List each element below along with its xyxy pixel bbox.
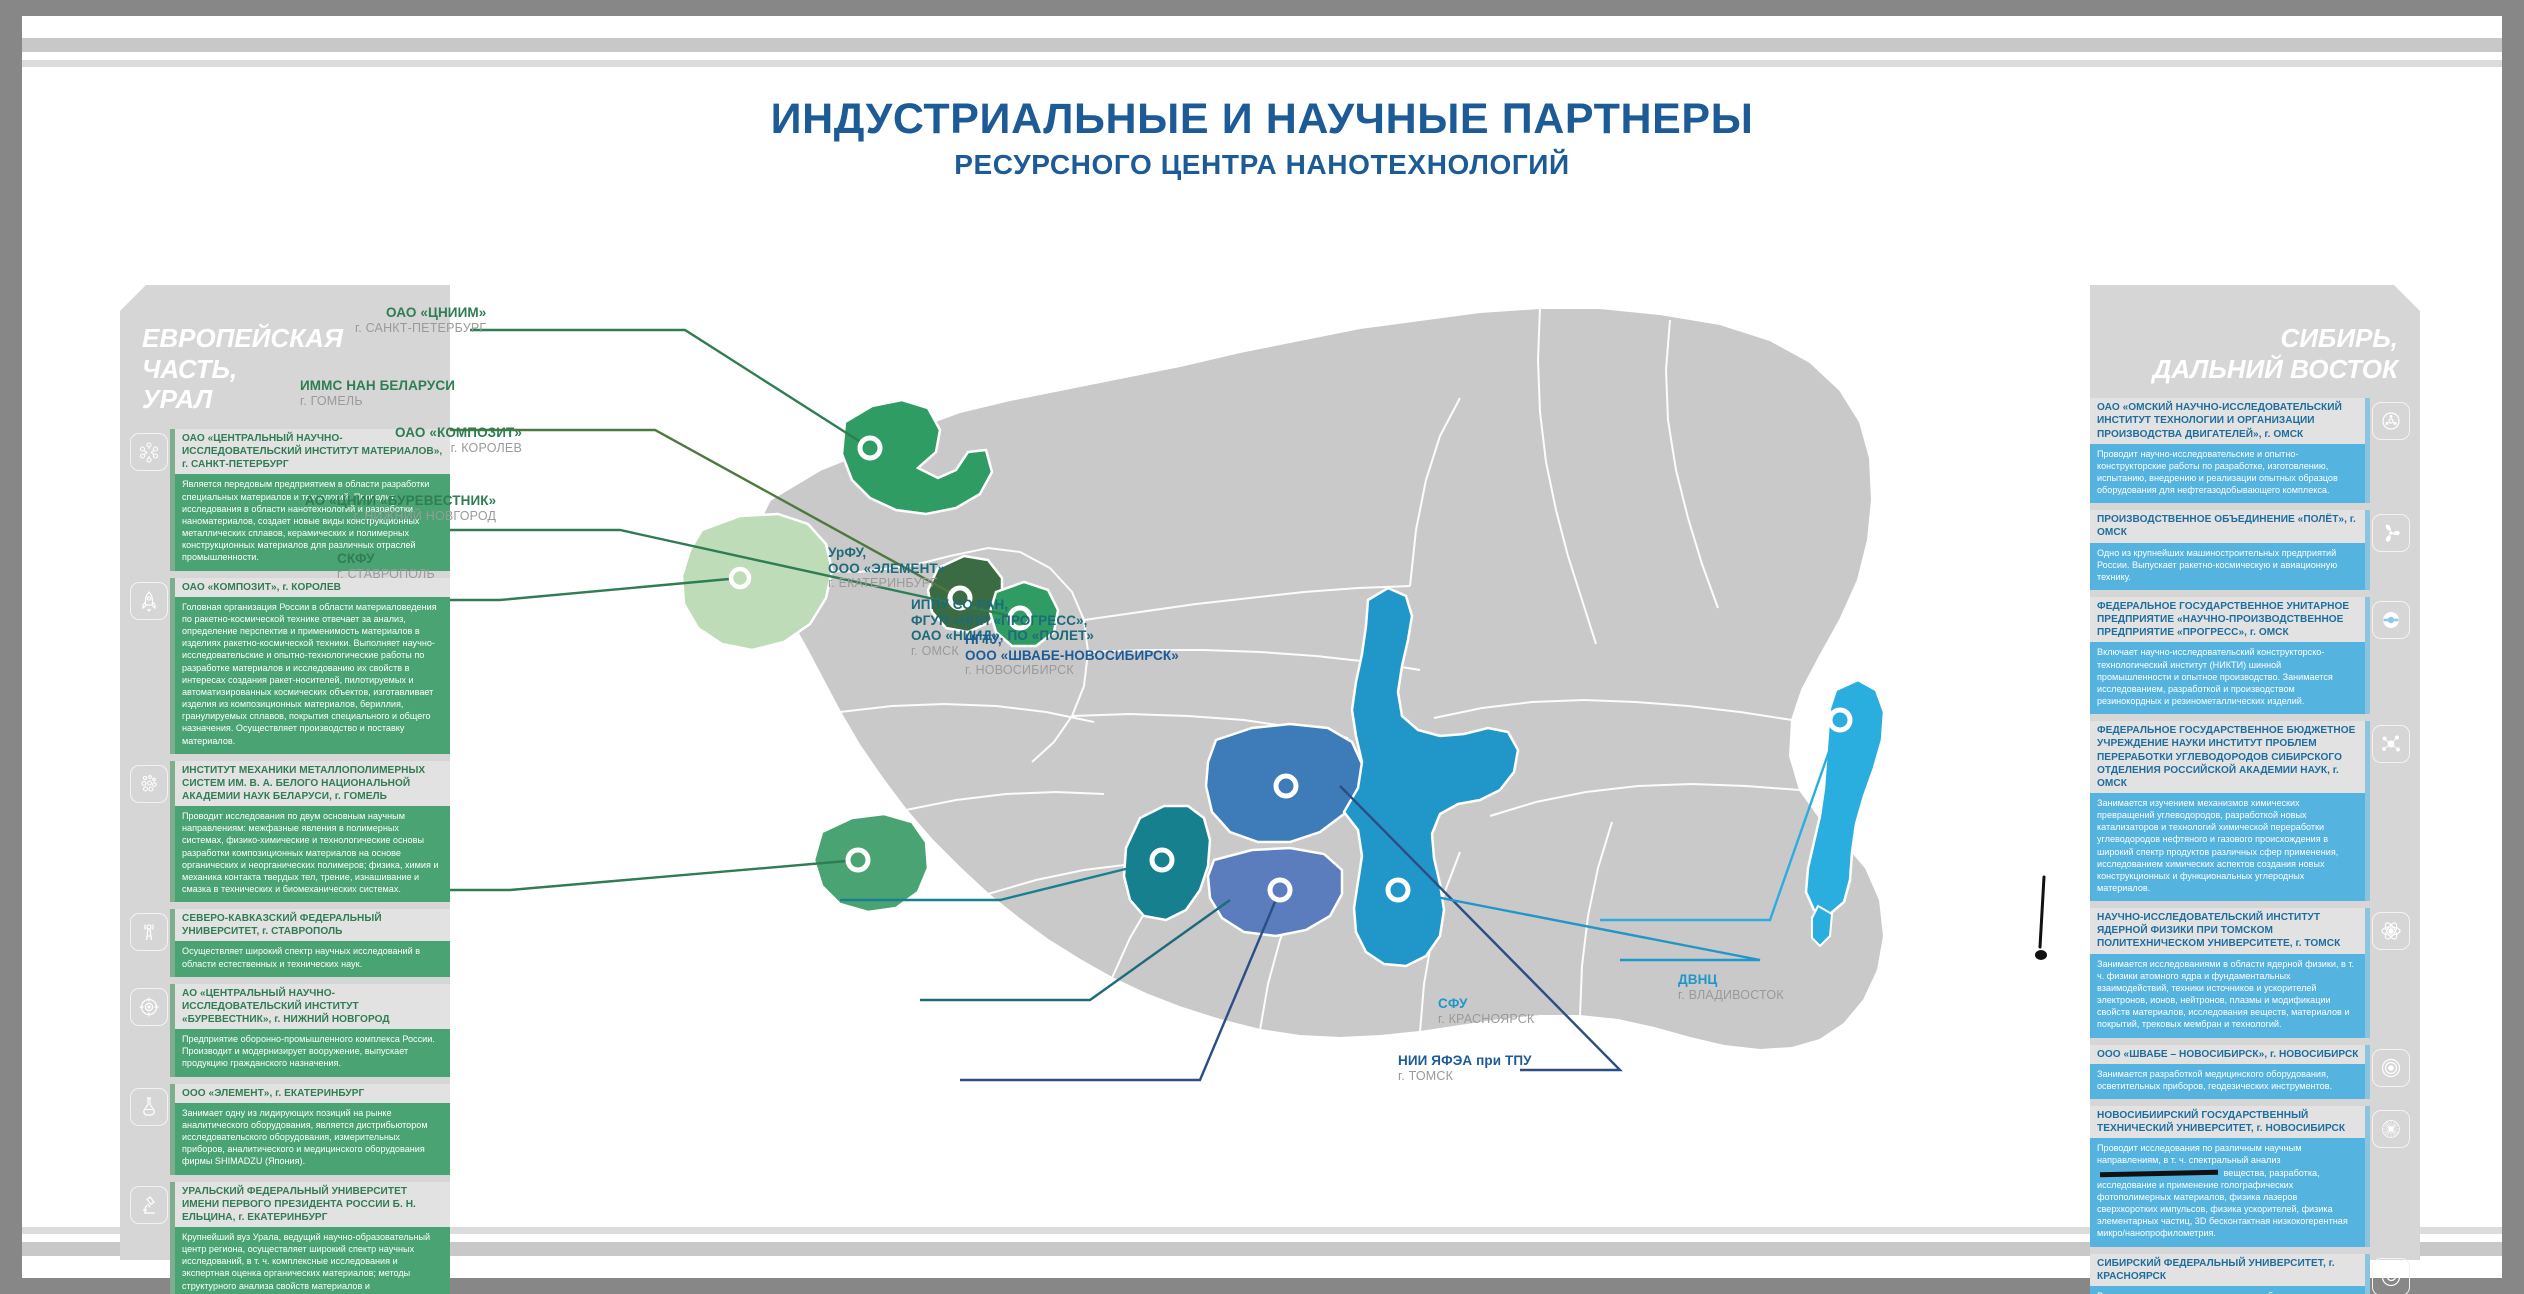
tire-icon bbox=[2372, 601, 2410, 639]
entry-description: Занимает одну из лидирующих позиций на р… bbox=[175, 1103, 450, 1175]
page-subtitle: РЕСУРСНОГО ЦЕНТРА НАНОТЕХНОЛОГИЙ bbox=[0, 149, 2524, 181]
entry-description: Проводит исследования по различным научн… bbox=[2090, 1138, 2365, 1246]
russia-map bbox=[440, 200, 2100, 1200]
callout-name-line2: ФГУП «НПП «ПРОГРЕСС», bbox=[911, 613, 1094, 629]
callout-cniim: ОАО «ЦНИИМ» г. САНКТ-ПЕТЕРБУРГ bbox=[355, 305, 486, 335]
entry-body: ОАО «КОМПОЗИТ», г. КОРОЛЕВ Головная орга… bbox=[175, 578, 450, 754]
callout-imms: ИММС НАН БЕЛАРУСИ г. ГОМЕЛЬ bbox=[300, 378, 455, 408]
poster-root: ИНДУСТРИАЛЬНЫЕ И НАУЧНЫЕ ПАРТНЕРЫ РЕСУРС… bbox=[0, 0, 2524, 1294]
entry-body: НАУЧНО-ИССЛЕДОВАТЕЛЬСКИЙ ИНСТИТУТ ЯДЕРНО… bbox=[2090, 908, 2365, 1037]
callout-name-line2: ООО «ЭЛЕМЕНТ» bbox=[828, 561, 945, 577]
callout-city: г. КРАСНОЯРСК bbox=[1438, 1012, 1534, 1027]
entry-description: Занимается изучением механизмов химическ… bbox=[2090, 793, 2365, 901]
partner-entry[interactable]: ООО «ШВАБЕ – НОВОСИБИРСК», г. НОВОСИБИРС… bbox=[2090, 1045, 2420, 1099]
entry-title: УРАЛЬСКИЙ ФЕДЕРАЛЬНЫЙ УНИВЕРСИТЕТ ИМЕНИ … bbox=[175, 1182, 450, 1227]
callout-name-line1: ИППУ СО РАН, bbox=[911, 597, 1094, 613]
callout-city: г. ЕКАТЕРИНБУРГ bbox=[828, 576, 945, 591]
partner-entry[interactable]: УРАЛЬСКИЙ ФЕДЕРАЛЬНЫЙ УНИВЕРСИТЕТ ИМЕНИ … bbox=[120, 1182, 450, 1294]
turbine-icon bbox=[2372, 514, 2410, 552]
entry-description: Решает междисциплинарные задачи в област… bbox=[2090, 1286, 2365, 1294]
entry-body: АО «ЦЕНТРАЛЬНЫЙ НАУЧНО-ИССЛЕДОВАТЕЛЬСКИЙ… bbox=[175, 984, 450, 1077]
partner-entry[interactable]: ОАО «ОМСКИЙ НАУЧНО-ИССЛЕДОВАТЕЛЬСКИЙ ИНС… bbox=[2090, 398, 2420, 503]
entry-body: ОАО «ОМСКИЙ НАУЧНО-ИССЛЕДОВАТЕЛЬСКИЙ ИНС… bbox=[2090, 398, 2365, 503]
entry-description: Включает научно-исследовательский констр… bbox=[2090, 642, 2365, 714]
callout-city: г. НИЖНИЙ НОВГОРОД bbox=[305, 509, 496, 524]
callout-city: г. СТАВРОПОЛЬ bbox=[337, 567, 435, 582]
target-icon bbox=[130, 988, 168, 1026]
frame-top-border bbox=[0, 0, 2524, 16]
entry-title: СЕВЕРО-КАВКАЗСКИЙ ФЕДЕРАЛЬНЫЙ УНИВЕРСИТЕ… bbox=[175, 909, 450, 941]
map-svg bbox=[440, 200, 2100, 1200]
handdrawn-pen-mark bbox=[2030, 875, 2060, 965]
molecule-icon bbox=[130, 433, 168, 471]
callout-name-line2: ООО «ШВАБЕ-НОВОСИБИРСК» bbox=[965, 648, 1179, 664]
lens-icon bbox=[2372, 1049, 2410, 1087]
desc-part2: вещества, разработка, исследование и при… bbox=[2097, 1168, 2348, 1239]
callout-name: СФУ bbox=[1438, 996, 1534, 1012]
callout-novosibirsk: НГТУ, ООО «ШВАБЕ-НОВОСИБИРСК» г. НОВОСИБ… bbox=[965, 632, 1179, 678]
partner-entry[interactable]: СЕВЕРО-КАВКАЗСКИЙ ФЕДЕРАЛЬНЫЙ УНИВЕРСИТЕ… bbox=[120, 909, 450, 977]
partner-entry[interactable]: НАУЧНО-ИССЛЕДОВАТЕЛЬСКИЙ ИНСТИТУТ ЯДЕРНО… bbox=[2090, 908, 2420, 1037]
callout-name: СКФУ bbox=[337, 551, 435, 567]
callout-city: г. ВЛАДИВОСТОК bbox=[1678, 988, 1784, 1003]
laser-burst-icon bbox=[2372, 1110, 2410, 1148]
entry-body: УРАЛЬСКИЙ ФЕДЕРАЛЬНЫЙ УНИВЕРСИТЕТ ИМЕНИ … bbox=[175, 1182, 450, 1294]
entry-body: ИНСТИТУТ МЕХАНИКИ МЕТАЛЛОПОЛИМЕРНЫХ СИСТ… bbox=[175, 761, 450, 903]
atom-icon bbox=[2372, 912, 2410, 950]
callout-city: г. ГОМЕЛЬ bbox=[300, 394, 455, 409]
desc-part1: Проводит исследования по различным научн… bbox=[2097, 1143, 2301, 1165]
page-title-block: ИНДУСТРИАЛЬНЫЕ И НАУЧНЫЕ ПАРТНЕРЫ РЕСУРС… bbox=[0, 95, 2524, 181]
entry-body: ФЕДЕРАЛЬНОЕ ГОСУДАРСТВЕННОЕ УНИТАРНОЕ ПР… bbox=[2090, 597, 2365, 714]
panel-header-right: СИБИРЬ, ДАЛЬНИЙ ВОСТОК bbox=[2090, 285, 2420, 398]
callout-urfu: УрФУ, ООО «ЭЛЕМЕНТ» г. ЕКАТЕРИНБУРГ bbox=[828, 545, 945, 591]
redaction-mark bbox=[2100, 1169, 2218, 1176]
callout-burevestnik: АО «ЦНИИ «БУРЕВЕСТНИК» г. НИЖНИЙ НОВГОРО… bbox=[305, 493, 496, 523]
antenna-icon bbox=[130, 913, 168, 951]
spiral-icon bbox=[2372, 1258, 2410, 1294]
partner-entry[interactable]: ИНСТИТУТ МЕХАНИКИ МЕТАЛЛОПОЛИМЕРНЫХ СИСТ… bbox=[120, 761, 450, 903]
callout-kompozit: ОАО «КОМПОЗИТ» г. КОРОЛЕВ bbox=[395, 425, 522, 455]
entry-description: Проводит научно-исследовательские и опыт… bbox=[2090, 444, 2365, 504]
callout-name: ОАО «КОМПОЗИТ» bbox=[395, 425, 522, 441]
callout-name-line1: УрФУ, bbox=[828, 545, 945, 561]
callout-name-line1: НГТУ, bbox=[965, 632, 1179, 648]
frame-right-border bbox=[2502, 0, 2524, 1294]
rocket-icon bbox=[130, 582, 168, 620]
partner-entry[interactable]: АО «ЦЕНТРАЛЬНЫЙ НАУЧНО-ИССЛЕДОВАТЕЛЬСКИЙ… bbox=[120, 984, 450, 1077]
panel-header-line1: СИБИРЬ, bbox=[2112, 323, 2398, 354]
entry-title: НАУЧНО-ИССЛЕДОВАТЕЛЬСКИЙ ИНСТИТУТ ЯДЕРНО… bbox=[2090, 908, 2365, 953]
entry-title: ИНСТИТУТ МЕХАНИКИ МЕТАЛЛОПОЛИМЕРНЫХ СИСТ… bbox=[175, 761, 450, 806]
entry-title: НОВОСИБИИРСКИЙ ГОСУДАРСТВЕННЫЙ ТЕХНИЧЕСК… bbox=[2090, 1106, 2365, 1138]
partner-entry[interactable]: ООО «ЭЛЕМЕНТ», г. ЕКАТЕРИНБУРГ Занимает … bbox=[120, 1084, 450, 1175]
entry-body: ООО «ЭЛЕМЕНТ», г. ЕКАТЕРИНБУРГ Занимает … bbox=[175, 1084, 450, 1175]
flask-icon bbox=[130, 1088, 168, 1126]
partner-entry[interactable]: СИБИРСКИЙ ФЕДЕРАЛЬНЫЙ УНИВЕРСИТЕТ, г. КР… bbox=[2090, 1254, 2420, 1294]
callout-tomsk: НИИ ЯФЭА при ТПУ г. ТОМСК bbox=[1398, 1053, 1532, 1083]
callout-name: НИИ ЯФЭА при ТПУ bbox=[1398, 1053, 1532, 1069]
particles-icon bbox=[130, 765, 168, 803]
entry-description: Одно из крупнейших машиностроительных пр… bbox=[2090, 543, 2365, 591]
partner-entry[interactable]: ФЕДЕРАЛЬНОЕ ГОСУДАРСТВЕННОЕ БЮДЖЕТНОЕ УЧ… bbox=[2090, 721, 2420, 901]
entry-title: ОАО «ОМСКИЙ НАУЧНО-ИССЛЕДОВАТЕЛЬСКИЙ ИНС… bbox=[2090, 398, 2365, 443]
entry-description: Осуществляет широкий спектр научных иссл… bbox=[175, 941, 450, 976]
callout-city: г. САНКТ-ПЕТЕРБУРГ bbox=[355, 321, 486, 336]
entry-title: ПРОИЗВОДСТВЕННОЕ ОБЪЕДИНЕНИЕ «ПОЛЁТ», г.… bbox=[2090, 510, 2365, 542]
callout-city: г. НОВОСИБИРСК bbox=[965, 663, 1179, 678]
entry-title: ООО «ЭЛЕМЕНТ», г. ЕКАТЕРИНБУРГ bbox=[175, 1084, 450, 1103]
callout-city: г. ТОМСК bbox=[1398, 1069, 1532, 1084]
frame-left-border bbox=[0, 0, 22, 1294]
entry-description: Занимается разработкой медицинского обор… bbox=[2090, 1064, 2365, 1099]
decor-bar-top-thin bbox=[22, 60, 2502, 67]
callout-city: г. КОРОЛЕВ bbox=[395, 441, 522, 456]
entry-title: АО «ЦЕНТРАЛЬНЫЙ НАУЧНО-ИССЛЕДОВАТЕЛЬСКИЙ… bbox=[175, 984, 450, 1029]
entry-title: СИБИРСКИЙ ФЕДЕРАЛЬНЫЙ УНИВЕРСИТЕТ, г. КР… bbox=[2090, 1254, 2365, 1286]
page-title: ИНДУСТРИАЛЬНЫЕ И НАУЧНЫЕ ПАРТНЕРЫ bbox=[0, 95, 2524, 143]
molecule-bond-icon bbox=[2372, 725, 2410, 763]
partner-entry[interactable]: ФЕДЕРАЛЬНОЕ ГОСУДАРСТВЕННОЕ УНИТАРНОЕ ПР… bbox=[2090, 597, 2420, 714]
entry-title: ФЕДЕРАЛЬНОЕ ГОСУДАРСТВЕННОЕ БЮДЖЕТНОЕ УЧ… bbox=[2090, 721, 2365, 793]
callout-dvnc: ДВНЦ г. ВЛАДИВОСТОК bbox=[1678, 972, 1784, 1002]
callout-sfu: СФУ г. КРАСНОЯРСК bbox=[1438, 996, 1534, 1026]
partner-list-right: ОАО «ОМСКИЙ НАУЧНО-ИССЛЕДОВАТЕЛЬСКИЙ ИНС… bbox=[2090, 398, 2420, 1294]
microscope-icon bbox=[130, 1186, 168, 1224]
partner-entry[interactable]: ПРОИЗВОДСТВЕННОЕ ОБЪЕДИНЕНИЕ «ПОЛЁТ», г.… bbox=[2090, 510, 2420, 590]
entry-description: Головная организация России в области ма… bbox=[175, 597, 450, 754]
entry-description: Предприятие оборонно-промышленного компл… bbox=[175, 1029, 450, 1077]
callout-skfu: СКФУ г. СТАВРОПОЛЬ bbox=[337, 551, 435, 581]
gear-wheel-icon bbox=[2372, 402, 2410, 440]
callout-name: АО «ЦНИИ «БУРЕВЕСТНИК» bbox=[305, 493, 496, 509]
entry-description: Проводит исследования по двум основным н… bbox=[175, 806, 450, 902]
partner-entry[interactable]: НОВОСИБИИРСКИЙ ГОСУДАРСТВЕННЫЙ ТЕХНИЧЕСК… bbox=[2090, 1106, 2420, 1247]
callout-name: ОАО «ЦНИИМ» bbox=[355, 305, 486, 321]
entry-title: ООО «ШВАБЕ – НОВОСИБИРСК», г. НОВОСИБИРС… bbox=[2090, 1045, 2365, 1064]
panel-header-line2: ДАЛЬНИЙ ВОСТОК bbox=[2112, 354, 2398, 385]
entry-body: СЕВЕРО-КАВКАЗСКИЙ ФЕДЕРАЛЬНЫЙ УНИВЕРСИТЕ… bbox=[175, 909, 450, 977]
decor-bar-top-thick bbox=[22, 38, 2502, 52]
callout-name: ДВНЦ bbox=[1678, 972, 1784, 988]
entry-body: ПРОИЗВОДСТВЕННОЕ ОБЪЕДИНЕНИЕ «ПОЛЁТ», г.… bbox=[2090, 510, 2365, 590]
entry-body: ФЕДЕРАЛЬНОЕ ГОСУДАРСТВЕННОЕ БЮДЖЕТНОЕ УЧ… bbox=[2090, 721, 2365, 901]
entry-title: ФЕДЕРАЛЬНОЕ ГОСУДАРСТВЕННОЕ УНИТАРНОЕ ПР… bbox=[2090, 597, 2365, 642]
partner-entry[interactable]: ОАО «КОМПОЗИТ», г. КОРОЛЕВ Головная орга… bbox=[120, 578, 450, 754]
entry-body: НОВОСИБИИРСКИЙ ГОСУДАРСТВЕННЫЙ ТЕХНИЧЕСК… bbox=[2090, 1106, 2365, 1247]
callout-name: ИММС НАН БЕЛАРУСИ bbox=[300, 378, 455, 394]
entry-description: Крупнейший вуз Урала, ведущий научно-обр… bbox=[175, 1227, 450, 1294]
entry-body: ООО «ШВАБЕ – НОВОСИБИРСК», г. НОВОСИБИРС… bbox=[2090, 1045, 2365, 1099]
sidebar-siberia-far-east: СИБИРЬ, ДАЛЬНИЙ ВОСТОК ОАО «ОМСКИЙ НАУЧН… bbox=[2090, 285, 2420, 1260]
entry-description: Занимается исследованиями в области ядер… bbox=[2090, 954, 2365, 1038]
entry-body: СИБИРСКИЙ ФЕДЕРАЛЬНЫЙ УНИВЕРСИТЕТ, г. КР… bbox=[2090, 1254, 2365, 1294]
